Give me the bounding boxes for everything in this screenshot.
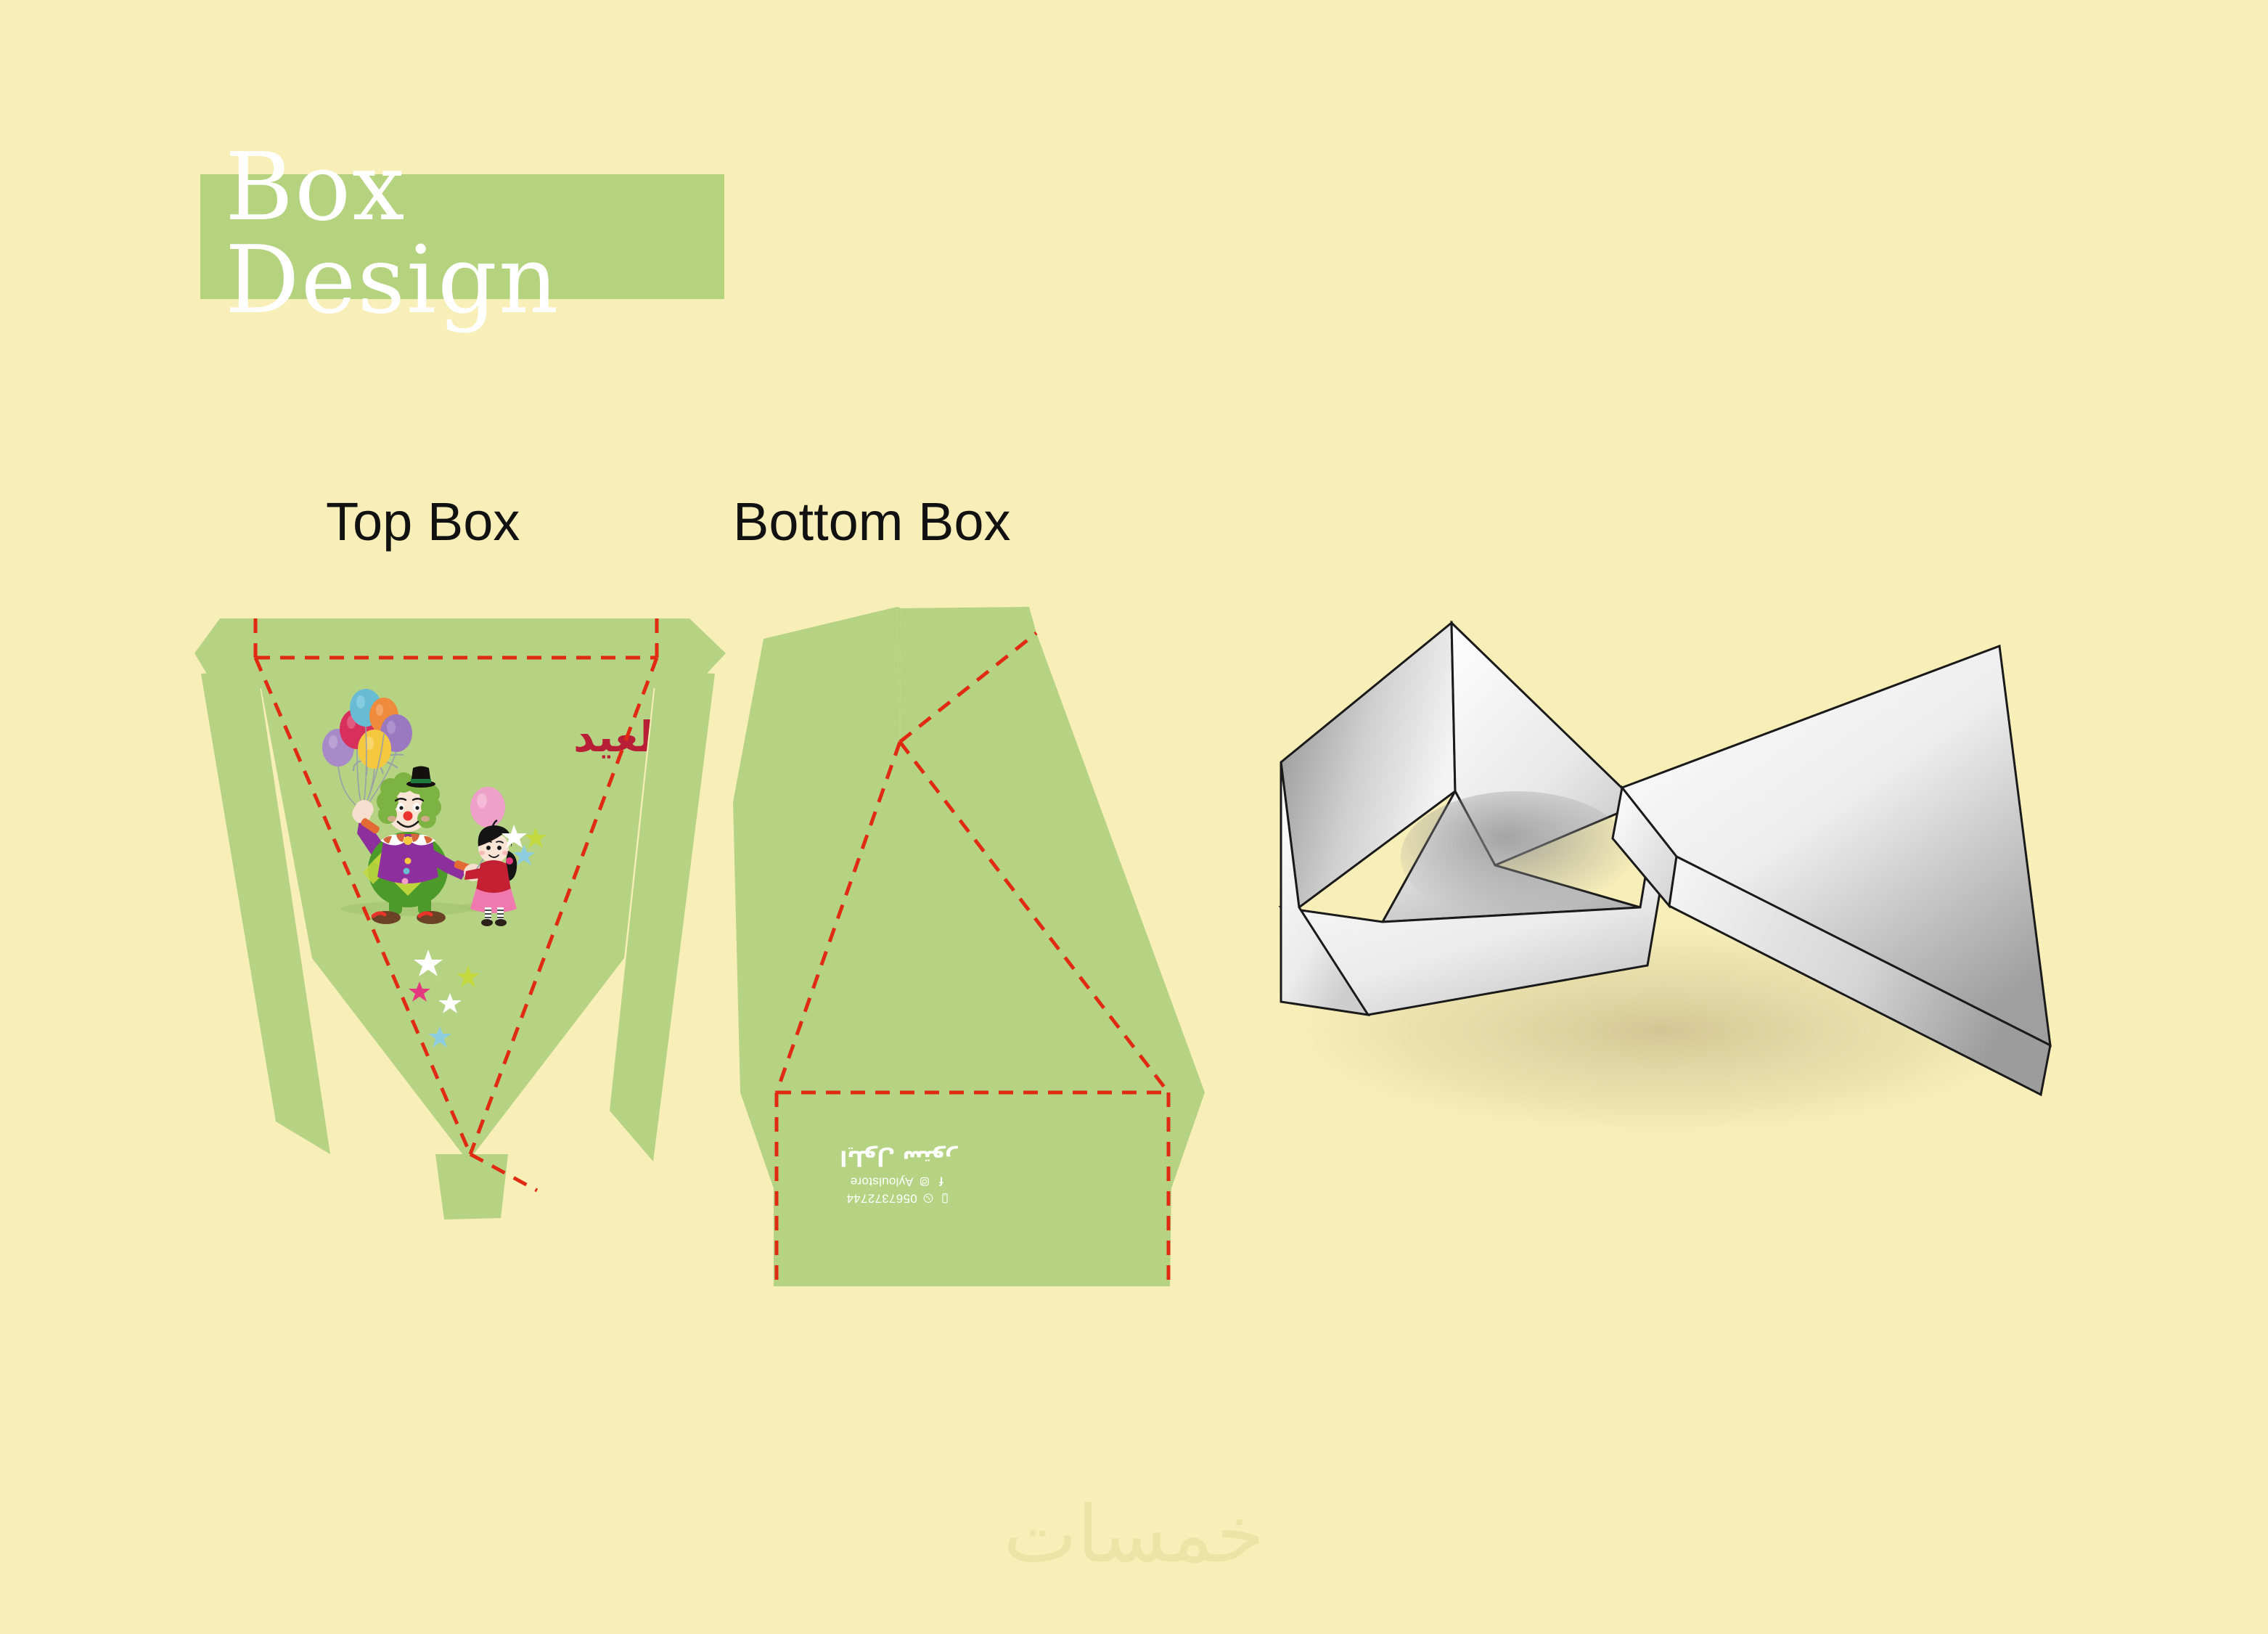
pink-balloon-icon <box>470 787 505 828</box>
design-canvas: Box Design Top Box Bottom Box <box>0 0 2268 1634</box>
top-box-dieline: جانا العيد <box>195 618 761 1220</box>
phone-number: 0567372744 <box>846 1190 917 1206</box>
phone-icon <box>939 1192 951 1204</box>
site-watermark: خمسات <box>0 1490 2268 1580</box>
box-3d-mockup <box>1281 623 2050 1132</box>
bottom-box-contact-block: 0567372744 Ayloulstore ايلول ستور <box>804 1145 993 1206</box>
mockup-base <box>1281 623 1662 1015</box>
brand-name-arabic: ايلول ستور <box>804 1145 993 1171</box>
facebook-icon <box>936 1175 947 1187</box>
top-box-apex-flap <box>435 1154 508 1220</box>
dieline-artboard: جانا العيد <box>0 0 2268 1634</box>
clown-nose-icon <box>404 812 413 821</box>
whatsapp-icon <box>922 1192 934 1204</box>
bottom-box-left-panel <box>733 607 900 1092</box>
bottom-box-main-panel <box>900 607 1205 1092</box>
hair-tie <box>506 857 513 865</box>
social-handle: Ayloulstore <box>850 1173 913 1190</box>
contact-row-social: Ayloulstore <box>804 1173 993 1190</box>
instagram-icon <box>919 1175 930 1187</box>
contact-row-phone: 0567372744 <box>804 1190 993 1206</box>
